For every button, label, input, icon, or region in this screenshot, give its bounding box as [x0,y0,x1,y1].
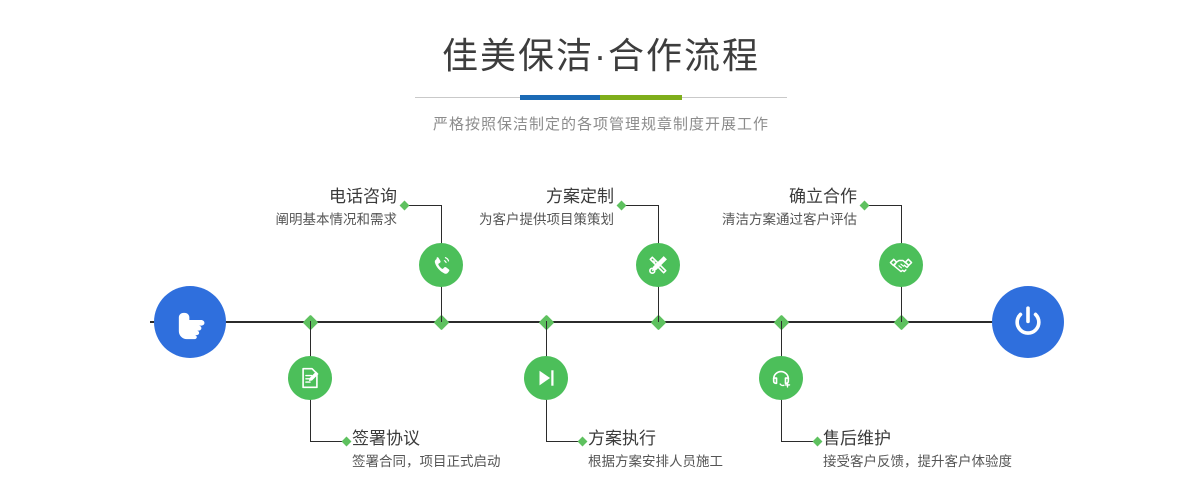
step-circle-4[interactable] [524,356,568,400]
step-title-5: 售后维护 [823,428,1083,450]
step-title-1: 电话咨询 [151,186,397,208]
step-circle-6[interactable] [879,243,923,287]
divider-segment-blue [520,95,600,100]
step-title-2: 签署协议 [352,428,592,450]
label-tip-step-2 [342,436,352,446]
power-icon [1007,301,1049,343]
step-title-3: 方案定制 [370,186,614,208]
title-divider [415,92,787,104]
step-desc-2: 签署合同，项目正式启动 [352,452,592,472]
divider-segment-green [600,95,682,100]
step-label-1: 电话咨询 阐明基本情况和需求 [151,186,397,230]
step-desc-5: 接受客户反馈，提升客户体验度 [823,452,1083,472]
step-title-6: 确立合作 [613,186,857,208]
page-header: 佳美保洁·合作流程 严格按照保洁制定的各项管理规章制度开展工作 [0,0,1202,136]
timeline-axis [150,321,1052,323]
step-circle-1[interactable] [419,243,463,287]
play-execute-icon [533,365,559,391]
step-circle-5[interactable] [759,356,803,400]
connector-elbow-step-6 [865,205,901,206]
step-circle-2[interactable] [288,356,332,400]
step-label-6: 确立合作 清洁方案通过客户评估 [613,186,857,230]
pencil-ruler-icon [645,252,671,278]
step-desc-3: 为客户提供项目策策划 [370,210,614,230]
page-title: 佳美保洁·合作流程 [0,34,1202,78]
step-label-3: 方案定制 为客户提供项目策策划 [370,186,614,230]
label-tip-step-6 [860,200,870,210]
step-title-4: 方案执行 [588,428,828,450]
step-label-2: 签署协议 签署合同，项目正式启动 [352,428,592,472]
step-desc-4: 根据方案安排人员施工 [588,452,828,472]
pointing-hand-icon [169,301,211,343]
step-label-4: 方案执行 根据方案安排人员施工 [588,428,828,472]
step-desc-6: 清洁方案通过客户评估 [613,210,857,230]
flow-end-node[interactable] [992,286,1064,358]
step-circle-3[interactable] [636,243,680,287]
flow-start-node[interactable] [154,286,226,358]
handshake-icon [888,252,914,278]
step-desc-1: 阐明基本情况和需求 [151,210,397,230]
document-edit-icon [297,365,323,391]
step-label-5: 售后维护 接受客户反馈，提升客户体验度 [823,428,1083,472]
flow-diagram-page: 佳美保洁·合作流程 严格按照保洁制定的各项管理规章制度开展工作 [0,0,1202,502]
headset-support-icon [768,365,794,391]
phone-call-icon [428,252,454,278]
page-subtitle: 严格按照保洁制定的各项管理规章制度开展工作 [0,114,1202,136]
